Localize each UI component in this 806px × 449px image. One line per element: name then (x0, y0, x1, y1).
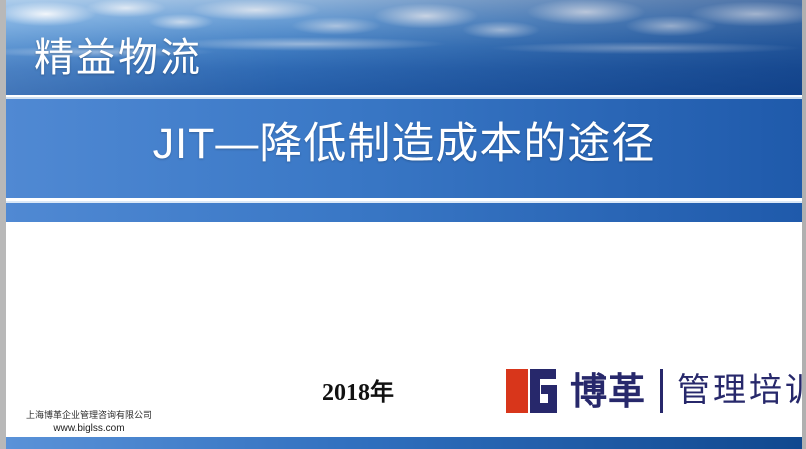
company-name: 上海博革企业管理咨询有限公司 (14, 410, 164, 422)
sky-photo-background: 精益物流 (6, 0, 802, 95)
brand-logo-lockup: 博革 管理培训 (504, 364, 806, 418)
page-title: JIT—降低制造成本的途径 (6, 121, 802, 168)
bg-monogram-icon (504, 367, 560, 415)
slide-year: 2018年 (322, 372, 394, 407)
company-footer: 上海博革企业管理咨询有限公司 www.biglss.com (14, 410, 164, 436)
logo-divider (660, 369, 663, 413)
logo-tagline: 管理培训 (677, 375, 806, 408)
sub-band-accent (6, 201, 802, 222)
title-band: JIT—降低制造成本的途径 (6, 97, 802, 198)
slide-banner: 精益物流 JIT—降低制造成本的途径 (6, 0, 802, 222)
logo-wordmark: 博革 (570, 373, 646, 410)
presentation-slide: 精益物流 JIT—降低制造成本的途径 2018年 上海博革企业管理咨询有限公司 … (0, 0, 806, 449)
bottom-accent-strip (6, 437, 802, 449)
company-website[interactable]: www.biglss.com (14, 422, 164, 436)
slide-body: 2018年 上海博革企业管理咨询有限公司 www.biglss.com 博革 管… (6, 222, 802, 437)
slide-kicker-heading: 精益物流 (34, 38, 202, 78)
